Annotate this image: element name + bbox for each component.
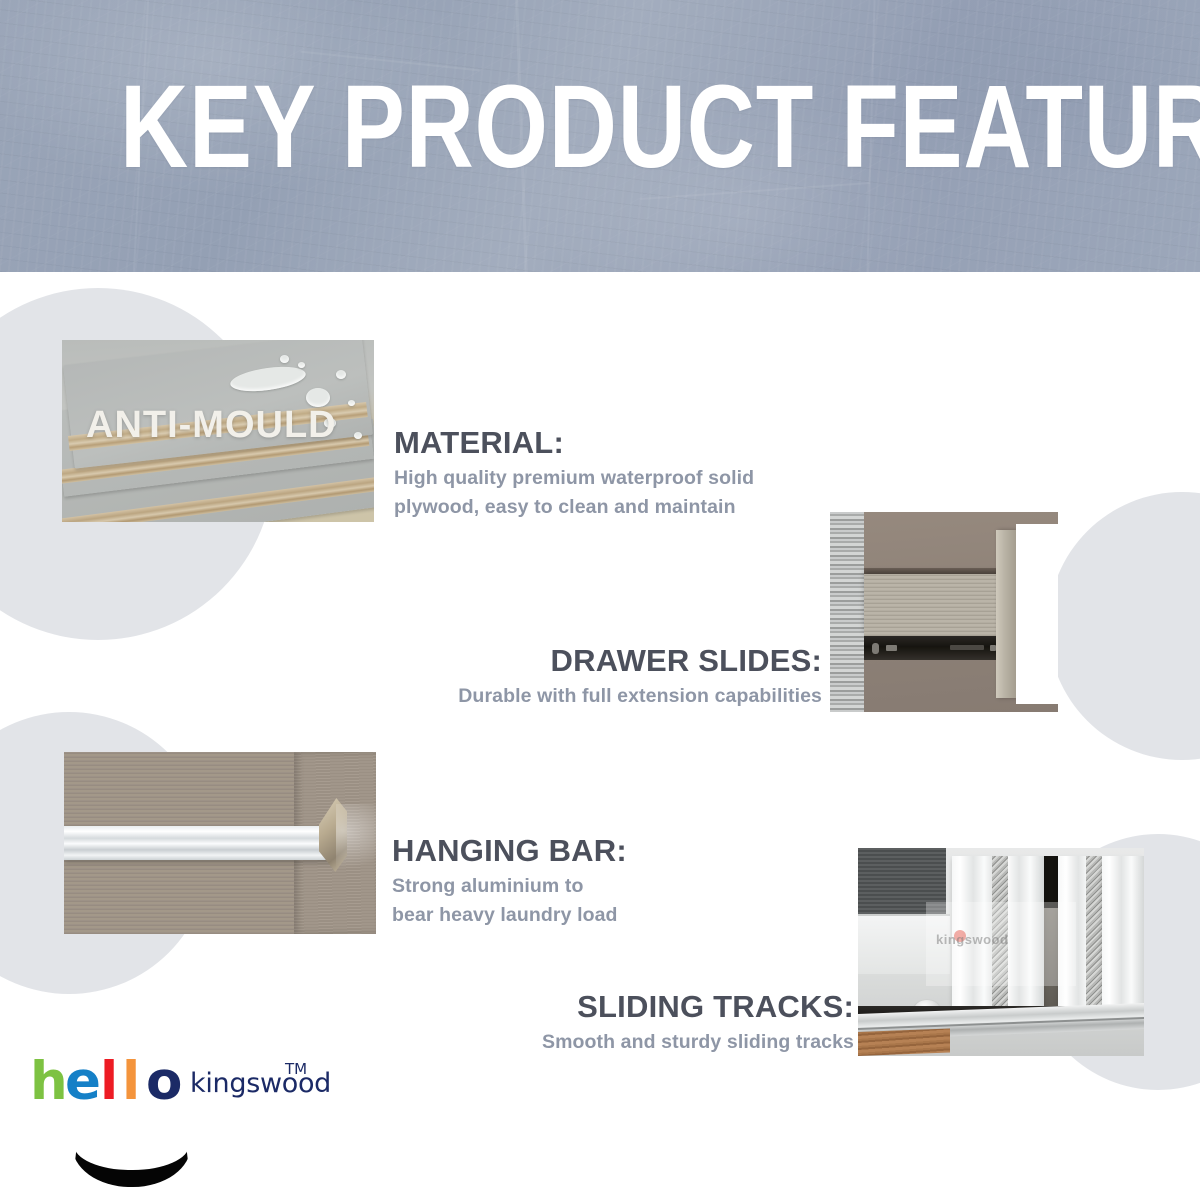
- feature-hanging-bar-heading: HANGING BAR:: [392, 832, 722, 870]
- drawer-slide-photo: [830, 512, 1058, 712]
- door-core-edge: [1086, 856, 1102, 1008]
- water-droplet-icon: [336, 370, 346, 379]
- light-reflection: [336, 804, 376, 868]
- feature-sliding-tracks-body: Smooth and sturdy sliding tracks: [430, 1029, 854, 1055]
- plywood-sheets-photo: ANTI-MOULD: [62, 340, 374, 522]
- feature-material-body-line2: plywood, easy to clean and maintain: [394, 494, 824, 520]
- trademark-symbol: TM: [285, 1060, 307, 1078]
- drawer-white-area: [1016, 524, 1058, 704]
- feature-drawer-slides-body: Durable with full extension capabilities: [330, 683, 822, 709]
- drawer-face-board: [996, 530, 1016, 698]
- feature-drawer-slides: DRAWER SLIDES: Durable with full extensi…: [330, 642, 822, 709]
- aluminium-hanging-rail: [64, 826, 332, 860]
- feature-hanging-bar-body-line1: Strong aluminium to: [392, 873, 722, 899]
- rail-detail: [872, 643, 879, 654]
- header-banner: KEY PRODUCT FEATURES: [0, 0, 1200, 272]
- logo-letter-o: o: [146, 1058, 182, 1106]
- feature-drawer-slides-heading: DRAWER SLIDES:: [330, 642, 822, 680]
- rail-detail: [886, 645, 897, 651]
- feature-material-heading: MATERIAL:: [394, 424, 824, 462]
- feature-sliding-tracks: SLIDING TRACKS: Smooth and sturdy slidin…: [430, 988, 854, 1055]
- wooden-floor-edge: [858, 1028, 950, 1056]
- logo-letter-l-orange: l: [122, 1058, 140, 1106]
- rail-detail: [950, 645, 984, 650]
- water-droplet-icon: [280, 355, 289, 363]
- feature-material: MATERIAL: High quality premium waterproo…: [394, 424, 824, 520]
- water-droplet-icon: [354, 432, 362, 439]
- logo-letter-h: h: [30, 1058, 68, 1106]
- hanging-bar-photo: [64, 752, 376, 934]
- feature-hanging-bar-body-line2: bear heavy laundry load: [392, 902, 722, 928]
- watermark-text: kingswood: [936, 932, 1008, 947]
- feature-sliding-tracks-heading: SLIDING TRACKS:: [430, 988, 854, 1026]
- water-droplet-icon: [348, 400, 355, 406]
- logo-wordmark: h e l l o kingswood TM: [30, 1062, 300, 1110]
- logo-letter-l-red: l: [100, 1058, 118, 1106]
- feature-hanging-bar: HANGING BAR: Strong aluminium to bear he…: [392, 832, 722, 928]
- feature-material-body-line1: High quality premium waterproof solid: [394, 465, 824, 491]
- decorative-circle-mid-right: [1048, 492, 1200, 760]
- drawer-side-panel: [830, 512, 864, 712]
- sliding-tracks-photo: kingswood: [858, 848, 1144, 1056]
- page-title: KEY PRODUCT FEATURES: [120, 68, 1080, 186]
- water-droplet-icon: [298, 362, 305, 368]
- logo-subtitle: kingswood: [190, 1068, 331, 1099]
- sliding-door-panel: [1102, 856, 1144, 1008]
- brand-logo[interactable]: h e l l o kingswood TM: [30, 1062, 300, 1110]
- anti-mould-overlay-label: ANTI-MOULD: [86, 404, 337, 447]
- logo-letter-e: e: [65, 1058, 101, 1106]
